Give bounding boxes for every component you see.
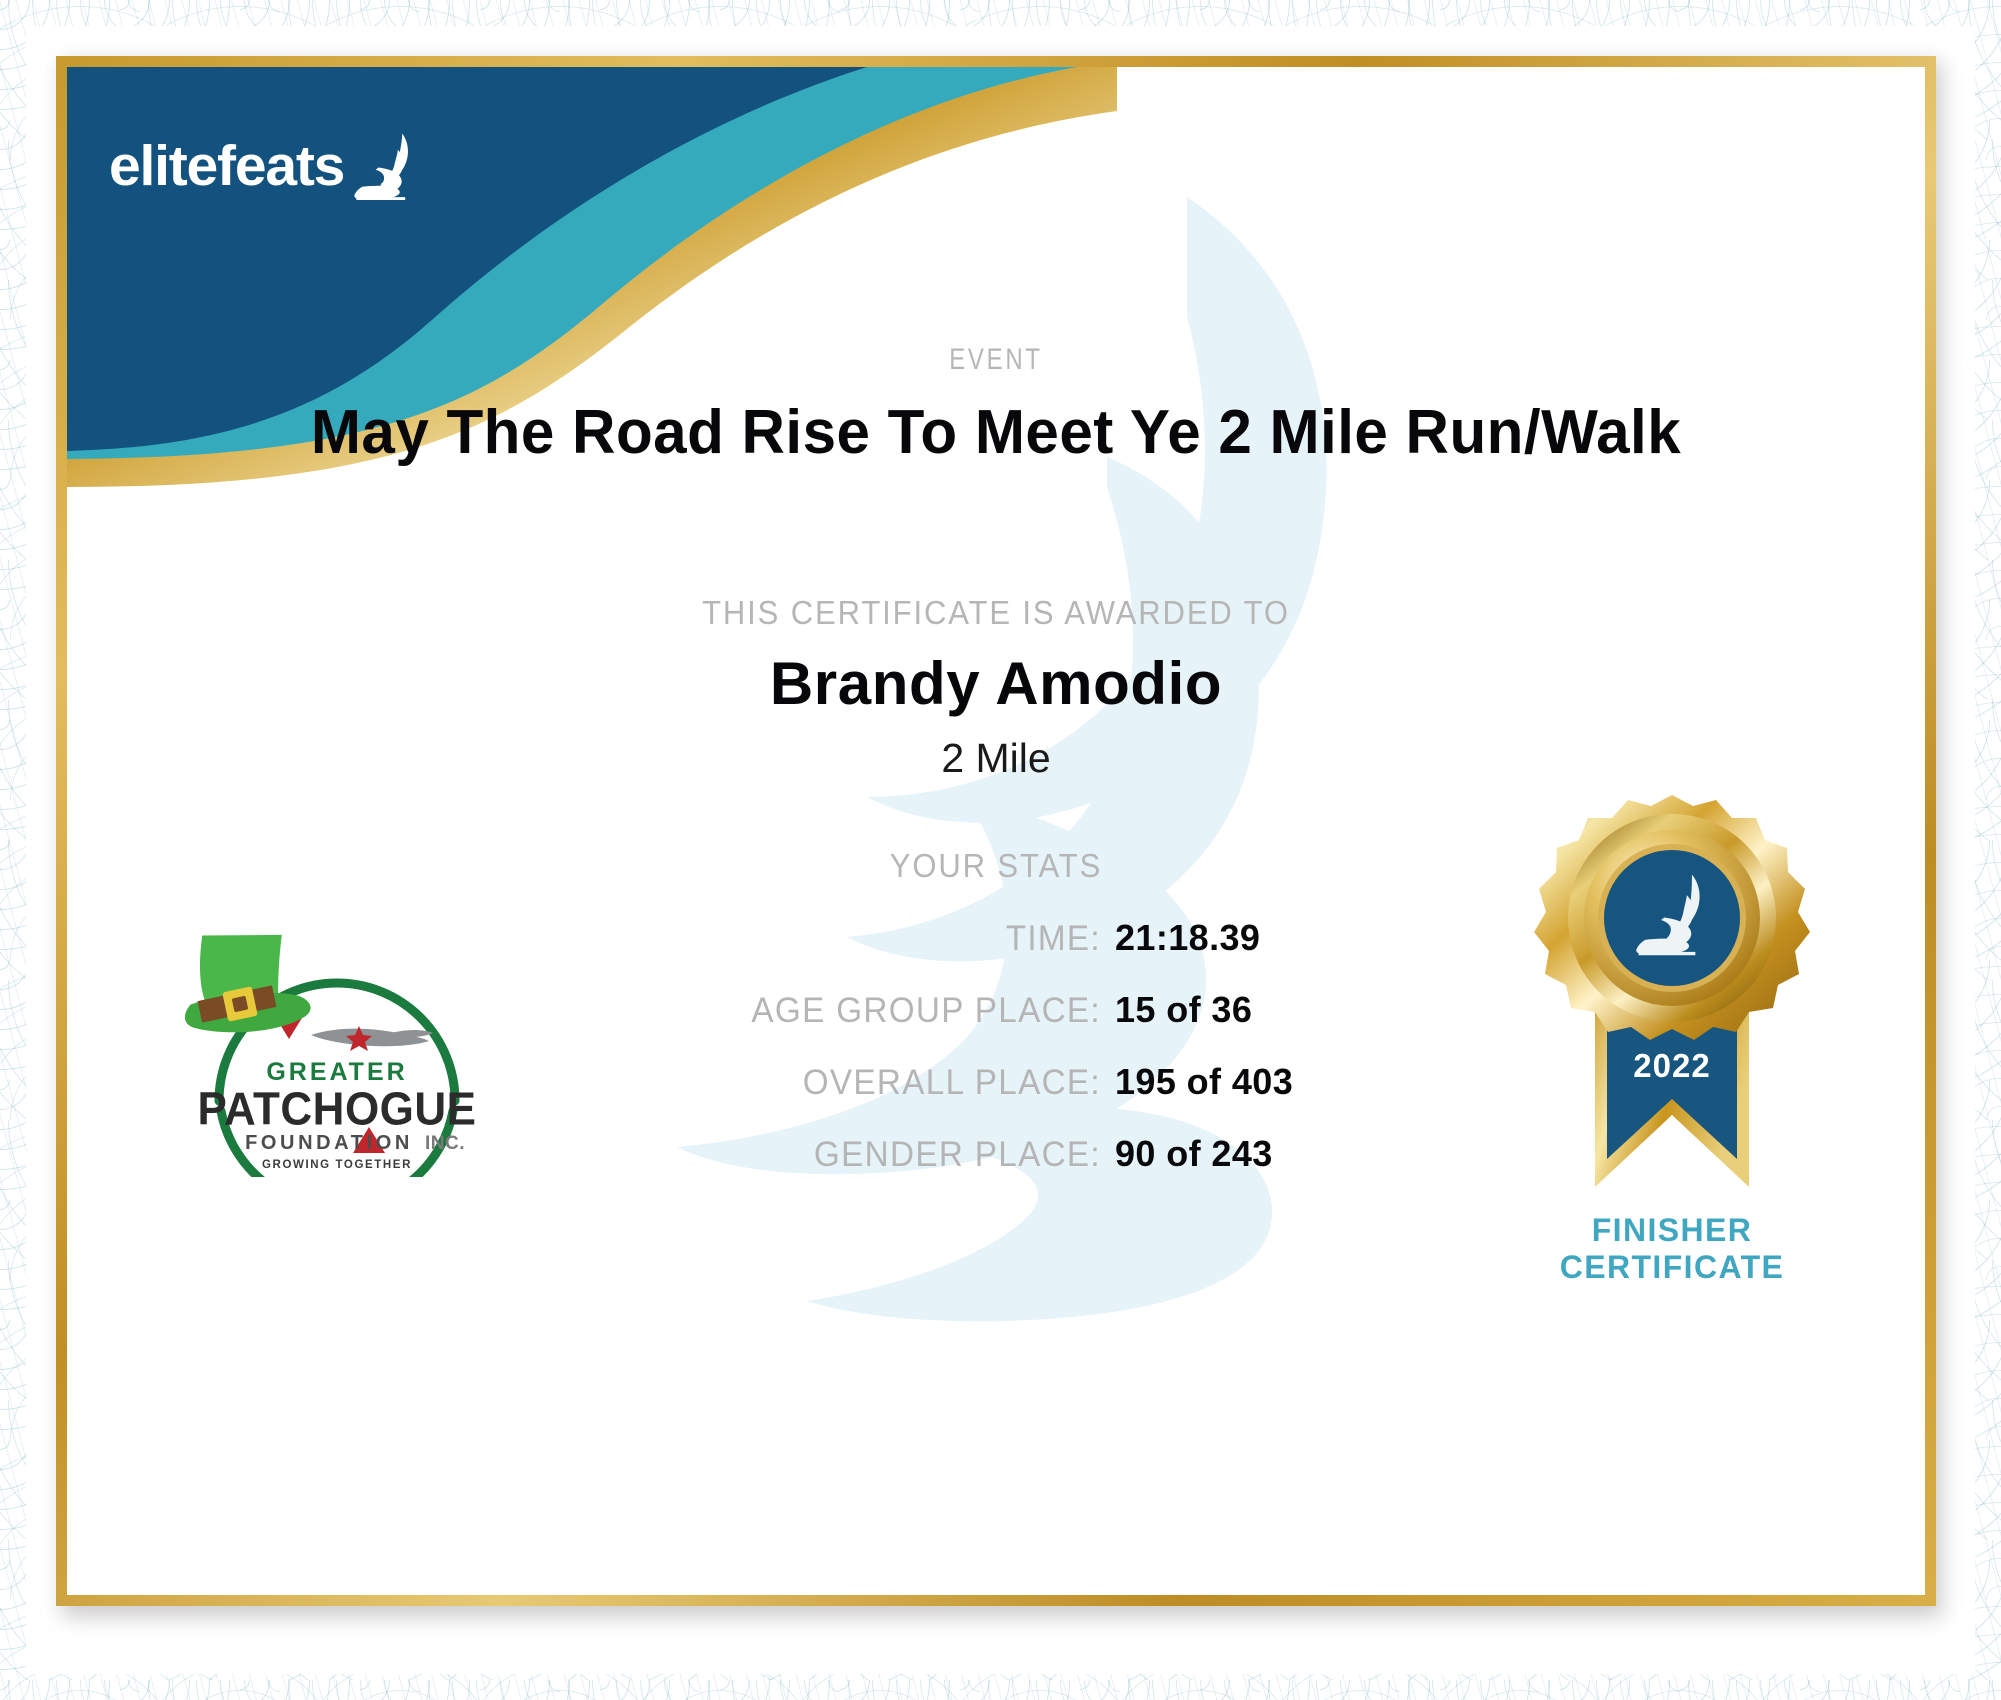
recipient-division: 2 Mile <box>67 735 1925 782</box>
awarded-to-label: THIS CERTIFICATE IS AWARDED TO <box>123 594 1870 632</box>
sponsor-inc-text: INC. <box>425 1133 465 1154</box>
sponsor-tagline-text: GROWING TOGETHER <box>262 1159 412 1171</box>
stat-label: AGE GROUP PLACE: <box>394 991 1101 1031</box>
certificate-frame: elitefeats EVENT May The Road Rise To Me… <box>56 56 1936 1606</box>
stat-label: GENDER PLACE: <box>394 1135 1101 1175</box>
certificate-content: EVENT May The Road Rise To Meet Ye 2 Mil… <box>67 67 1925 1595</box>
medal-disc <box>1534 795 1810 1040</box>
certificate-page: elitefeats EVENT May The Road Rise To Me… <box>0 0 2001 1700</box>
stat-label: OVERALL PLACE: <box>394 1063 1101 1103</box>
finisher-caption-line1: FINISHER <box>1467 1212 1877 1249</box>
sponsor-logo-greater-patchogue-foundation: GREATER PATCHOGUE FOUNDATION INC. GROWIN… <box>177 887 497 1177</box>
medal-year-text: 2022 <box>1633 1047 1710 1084</box>
sponsor-patchogue-text: PATCHOGUE <box>197 1082 476 1134</box>
finisher-medal: 2022 <box>1507 787 1837 1217</box>
event-title: May The Road Rise To Meet Ye 2 Mile Run/… <box>95 397 1897 468</box>
finisher-caption-line2: CERTIFICATE <box>1467 1249 1877 1286</box>
stat-label: TIME: <box>394 919 1101 959</box>
elitefeats-logo: elitefeats <box>109 129 420 203</box>
brand-wordmark: elitefeats <box>109 138 344 195</box>
winged-foot-icon <box>346 129 420 203</box>
event-kicker-label: EVENT <box>253 343 1739 377</box>
recipient-name: Brandy Amodio <box>67 649 1925 718</box>
sponsor-foundation-text: FOUNDATION <box>245 1132 413 1154</box>
finisher-certificate-caption: FINISHER CERTIFICATE <box>1467 1212 1877 1286</box>
